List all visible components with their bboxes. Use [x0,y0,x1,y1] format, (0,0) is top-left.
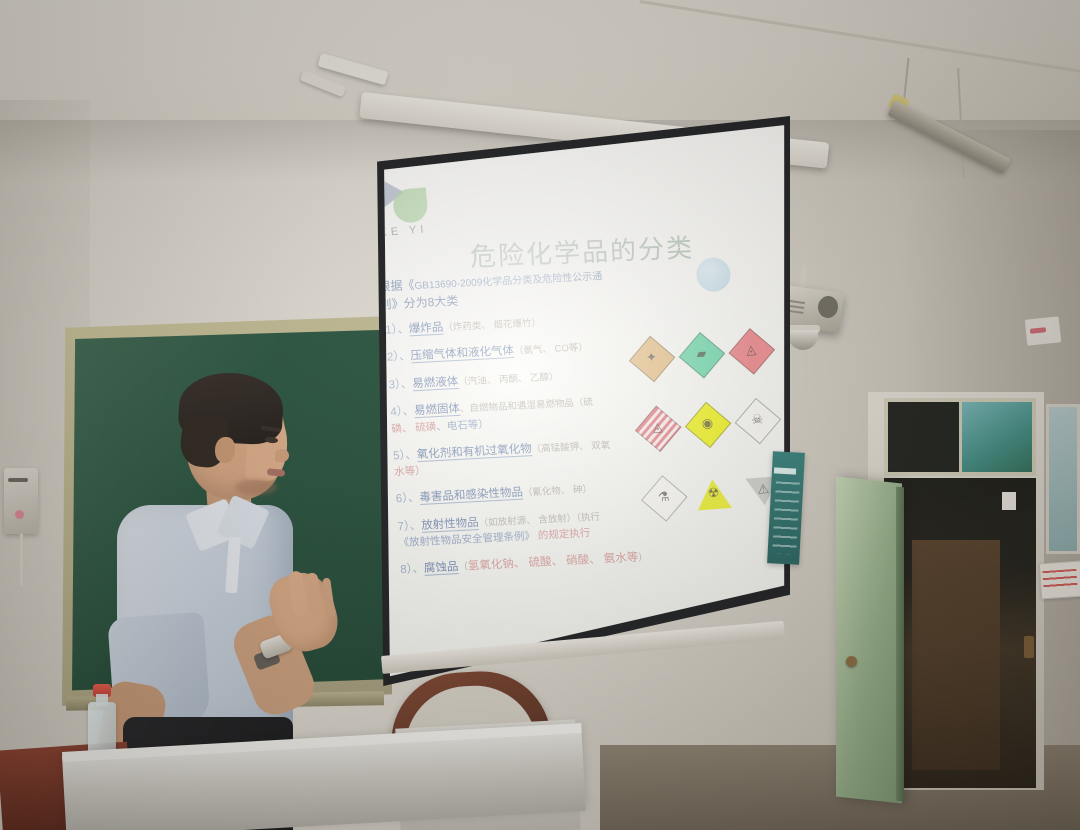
item-number: 1）、 [385,323,409,336]
intercom-speaker-icon [8,478,28,482]
logo-text: KE YI [379,223,428,239]
slide-lead-text: 根据《GB13690-2009化学品分类及危险性公示通 则》分为8大类 [378,263,660,314]
item-key: 易燃固体 [414,403,461,418]
presenter-chin-shadow [235,479,277,495]
item-examples: （炸药类、 烟花爆竹） [443,317,541,333]
list-item: 2）、压缩气体和液化气体（氨气、 CO等） [387,337,660,366]
list-item: 5）、氧化剂和有机过氧化物（高锰酸钾、 双氧 水等） [393,435,667,480]
interior-wooden-door [912,540,1000,770]
item-key: 爆炸品 [409,322,444,337]
list-item: 6）、毒害品和感染性物品（氰化物、 砷） [395,478,668,507]
item-key: 易燃液体 [412,376,459,391]
item-key: 毒害品和感染性物品 [419,487,523,505]
notice-board-text-lines [772,481,800,554]
item-sub-rest: 《放射性物品安全管理条例》 [398,530,535,549]
item-examples: （汽油、 丙酮、 乙醇） [458,371,559,387]
green-door[interactable] [836,477,902,804]
item-examples-end: ） [638,552,648,563]
list-item: 4）、易燃固体、自燃物品和遇湿易燃物品（硫 磷、 硫磺、电石等） [390,391,664,436]
item-highlight: 磷、 硫磺 [391,421,437,435]
item-examples: （氨气、 CO等） [514,342,589,357]
item-key: 腐蚀品 [424,561,459,576]
intercom-status-led [15,510,24,519]
door-notice-paper [1002,492,1016,510]
hazard-row: ✦ ▰ ◬ [628,327,780,388]
hazard-row: ⚗ ☢ ⚠ [640,466,790,527]
flammable-liquid-diamond-icon: ◬ [728,328,776,379]
item-number: 5）、 [393,449,417,462]
list-item: 1）、爆炸品（炸药类、 烟花爆竹） [385,309,658,338]
item-key: 压缩气体和液化气体 [410,345,514,363]
list-item: 3）、易燃液体（汽油、 丙酮、 乙醇） [388,364,661,393]
item-examples: （如放射源、 含放射）（执行 [478,511,600,528]
toxic-diamond-icon: ☠ [734,398,782,449]
list-item: 7）、放射性物品（如放射源、 含放射）（执行 《放射性物品安全管理条例》 的规定… [397,505,671,550]
red-sign-text-lines [1042,569,1077,591]
hazard-symbol-grid: ✦ ▰ ◬ ◬ ◉ ☠ ⚗ ☢ ⚠ [628,327,790,548]
item-highlight: 水等） [394,465,426,479]
flammable-solid-diamond-icon: ◬ [634,406,682,457]
list-item: 8）、腐蚀品（氢氧化钠、 硫酸、 硝酸、 氨水等） [400,549,673,578]
notice-board-heading [774,467,796,474]
lead-suffix: 则》分为8大类 [379,294,458,312]
item-key: 放射性物品 [421,516,479,532]
non-flammable-gas-diamond-icon: ▰ [678,332,726,383]
keyi-logo: KE YI [375,170,444,235]
transom-window [884,398,1036,476]
item-examples: （氰化物、 砷） [523,484,593,499]
hazard-row: ◬ ◉ ☠ [634,397,786,458]
item-key: 氧化剂和有机过氧化物 [416,443,532,462]
item-number: 7）、 [397,519,421,532]
intercom-cord [20,534,23,586]
item-number: 3）、 [388,378,412,391]
door-hinge [1024,636,1034,658]
item-examples: 、自燃物品和遇湿易燃物品（硫 [460,397,594,415]
door-knob-icon[interactable] [846,656,857,667]
transom-pane-left [888,402,962,472]
right-window [1046,404,1080,554]
item-number: 4）、 [390,405,414,418]
transom-pane-right [962,402,1033,472]
corrosive-diamond-icon: ⚗ [640,475,688,526]
item-highlight: 氢氧化钠、 硫酸、 硝酸、 氨水等 [468,552,639,573]
door-edge [896,487,904,802]
item-number: 2）、 [387,351,411,364]
presenter-ear [215,437,235,463]
item-examples: （高锰酸钾、 双氧 [531,440,610,455]
logo-leaf-icon [392,187,429,223]
item-sub-rest: 、电石等） [436,418,489,433]
classroom-photo: KE YI 危险化学品的分类 根据《GB13690-2009化学品分类及危险性公… [0,0,1080,830]
explosive-diamond-icon: ✦ [628,336,676,387]
item-number: 8）、 [400,563,424,576]
radioactive-triangle-icon: ☢ [690,472,738,523]
item-highlight: 的规定执行 [538,527,591,542]
presenter-nose [275,449,289,462]
lead-standard-code: GB13690-2009化学品分类及危险性公示通 [414,271,602,292]
oxidizer-diamond-icon: ◉ [684,402,732,453]
item-number: 6）、 [395,492,419,505]
